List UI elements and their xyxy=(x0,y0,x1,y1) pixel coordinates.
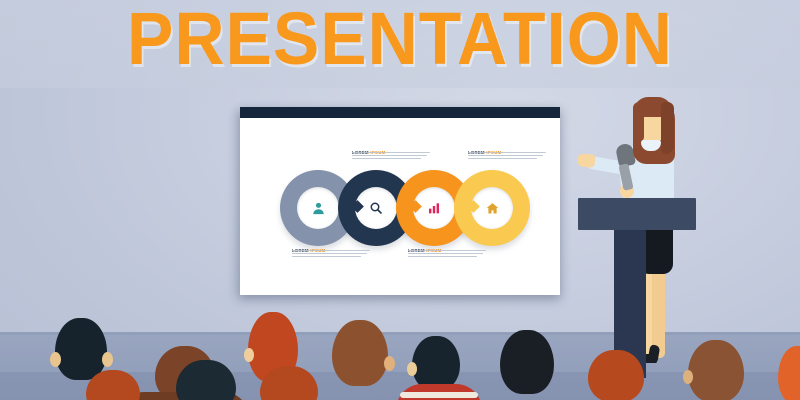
step-label-3: LOREM IPSUM xyxy=(408,248,486,257)
projection-screen: LOREM IPSUM LOREM IPSUM xyxy=(240,107,560,295)
audience-member-1-ear xyxy=(102,352,113,367)
presentation-poster: PRESENTATION xyxy=(0,0,800,400)
audience-member-3 xyxy=(176,360,236,400)
presenter-hair-side xyxy=(661,102,674,154)
podium-top xyxy=(578,198,696,230)
audience-member-5 xyxy=(332,320,388,386)
step-label-4: LOREM IPSUM xyxy=(468,150,546,159)
presenter-hair-side xyxy=(633,102,644,142)
infographic-steps: LOREM IPSUM LOREM IPSUM xyxy=(240,118,560,295)
step-ring-4[interactable] xyxy=(454,170,530,246)
step-label-3-text-line xyxy=(408,250,486,251)
audience-member-1 xyxy=(55,318,107,380)
step-label-1-text-line xyxy=(292,250,370,251)
audience-member-9 xyxy=(588,350,644,400)
step-label-1-text-line xyxy=(292,253,367,254)
step-label-4-text-line xyxy=(468,155,543,156)
audience-member-6 xyxy=(412,336,460,390)
audience-member-3b xyxy=(260,366,318,400)
screen-top-bar xyxy=(240,107,560,118)
step-label-2-text-line xyxy=(352,158,421,159)
step-label-3-text-line xyxy=(408,253,483,254)
presenter-hand xyxy=(576,153,595,168)
audience-member-8 xyxy=(500,330,554,394)
step-label-2-text-line xyxy=(352,152,430,153)
step-label-2-text-line xyxy=(352,155,427,156)
home-icon xyxy=(454,170,530,246)
step-label-1-text-line xyxy=(292,256,361,257)
step-label-2: LOREM IPSUM xyxy=(352,150,430,159)
audience-member-5-ear xyxy=(384,356,395,371)
audience-member-1-ear xyxy=(50,352,61,367)
audience-member-10-ear xyxy=(683,370,693,384)
audience-member-7b xyxy=(86,370,140,400)
slide-content: LOREM IPSUM LOREM IPSUM xyxy=(240,118,560,295)
step-label-4-text-line xyxy=(468,158,537,159)
audience xyxy=(0,300,800,400)
audience-member-11 xyxy=(778,346,800,400)
step-label-3-text-line xyxy=(408,256,477,257)
step-label-4-text-line xyxy=(468,152,546,153)
audience-member-6-ear xyxy=(407,362,417,376)
audience-member-4-ear xyxy=(244,348,254,362)
audience-member-10 xyxy=(688,340,744,400)
audience-member-6-shirt-stripe xyxy=(400,392,478,398)
step-label-1: LOREM IPSUM xyxy=(292,248,370,257)
page-title: PRESENTATION xyxy=(24,0,776,82)
